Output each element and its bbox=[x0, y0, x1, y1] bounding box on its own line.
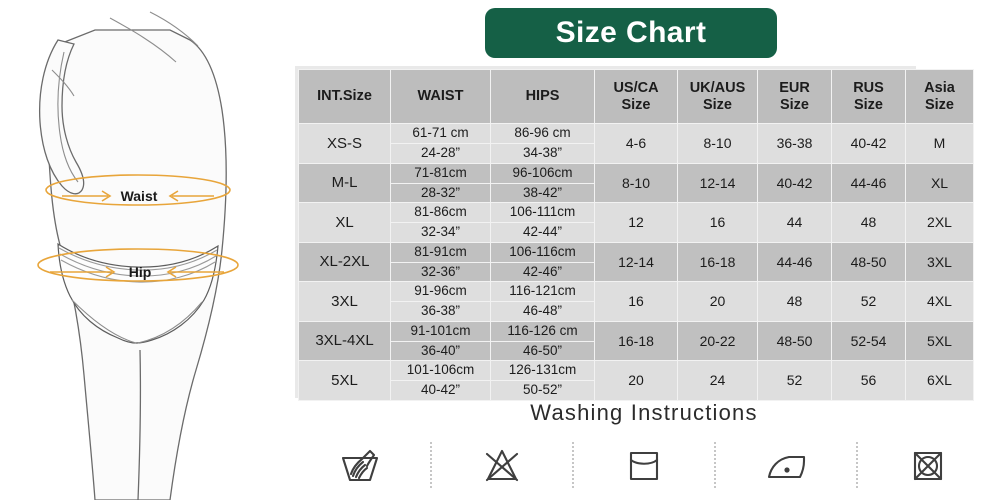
wash-separator-3 bbox=[714, 442, 716, 488]
wash-item-drip-dry bbox=[594, 442, 694, 488]
cell-eur: 44-46 bbox=[758, 242, 832, 282]
iron-low-icon bbox=[761, 442, 811, 488]
wash-item-do-not-bleach bbox=[452, 442, 552, 488]
cell-waist: 81-91cm32-36” bbox=[391, 242, 491, 282]
col-header-eur: EUR Size bbox=[758, 70, 832, 124]
cell-waist-cm: 81-91cm bbox=[391, 244, 490, 260]
do-not-bleach-icon bbox=[477, 442, 527, 488]
cell-asia: XL bbox=[906, 163, 974, 203]
cell-uk-aus: 16-18 bbox=[678, 242, 758, 282]
cell-rus: 40-42 bbox=[832, 124, 906, 164]
cell-asia: 2XL bbox=[906, 203, 974, 243]
cell-asia: 5XL bbox=[906, 321, 974, 361]
cell-waist: 61-71 cm24-28” bbox=[391, 124, 491, 164]
cell-int-size: 3XL-4XL bbox=[299, 321, 391, 361]
col-header-rus-line1: RUS bbox=[853, 80, 884, 96]
do-not-tumble-dry-icon bbox=[903, 442, 953, 488]
body-measurement-illustration: Waist Hip bbox=[0, 0, 290, 500]
cell-int-size: 3XL bbox=[299, 282, 391, 322]
cell-hips-inch: 42-44” bbox=[491, 222, 594, 240]
cell-hips-cm: 106-111cm bbox=[491, 204, 594, 220]
table-row: XS-S61-71 cm24-28”86-96 cm34-38”4-68-103… bbox=[299, 124, 974, 164]
col-header-uk-aus: UK/AUS Size bbox=[678, 70, 758, 124]
cell-hips-cm: 116-121cm bbox=[491, 283, 594, 299]
cell-hips: 106-111cm42-44” bbox=[491, 203, 595, 243]
col-header-us-ca-line2: Size bbox=[621, 97, 650, 113]
size-chart-page: Waist Hip Size Chart I bbox=[0, 0, 1000, 500]
header-row: INT.Size WAIST HIPS US/CA Size bbox=[299, 70, 974, 124]
cell-waist-cm: 71-81cm bbox=[391, 165, 490, 181]
cell-int-size: XS-S bbox=[299, 124, 391, 164]
washing-instructions-title: Washing Instructions bbox=[288, 398, 1000, 430]
col-header-hips-line1: HIPS bbox=[526, 88, 560, 104]
cell-us-ca: 12-14 bbox=[595, 242, 678, 282]
cell-waist-cm: 91-101cm bbox=[391, 323, 490, 339]
col-header-int-size-line1: INT.Size bbox=[317, 88, 372, 104]
col-header-us-ca: US/CA Size bbox=[595, 70, 678, 124]
col-header-asia-line2: Size bbox=[925, 97, 954, 113]
cell-waist-inch: 36-40” bbox=[391, 341, 490, 359]
col-header-waist-line1: WAIST bbox=[418, 88, 464, 104]
cell-uk-aus: 8-10 bbox=[678, 124, 758, 164]
cell-us-ca: 4-6 bbox=[595, 124, 678, 164]
table-row: XL81-86cm32-34”106-111cm42-44”121644482X… bbox=[299, 203, 974, 243]
cell-rus: 56 bbox=[832, 361, 906, 401]
cell-rus: 52-54 bbox=[832, 321, 906, 361]
col-header-us-ca-line1: US/CA bbox=[613, 80, 658, 96]
cell-eur: 52 bbox=[758, 361, 832, 401]
cell-hips: 96-106cm38-42” bbox=[491, 163, 595, 203]
col-header-uk-aus-line1: UK/AUS bbox=[690, 80, 746, 96]
page-title: Size Chart bbox=[556, 16, 707, 50]
cell-waist-cm: 91-96cm bbox=[391, 283, 490, 299]
waist-label: Waist bbox=[121, 188, 158, 204]
cell-us-ca: 16-18 bbox=[595, 321, 678, 361]
cell-us-ca: 12 bbox=[595, 203, 678, 243]
cell-waist: 81-86cm32-34” bbox=[391, 203, 491, 243]
col-header-eur-line1: EUR bbox=[779, 80, 810, 96]
cell-waist: 71-81cm28-32” bbox=[391, 163, 491, 203]
col-header-uk-aus-line2: Size bbox=[703, 97, 732, 113]
wash-item-iron-low bbox=[736, 442, 836, 488]
cell-hips-cm: 126-131cm bbox=[491, 362, 594, 378]
cell-waist: 91-101cm36-40” bbox=[391, 321, 491, 361]
col-header-hips: HIPS bbox=[491, 70, 595, 124]
cell-waist-inch: 24-28” bbox=[391, 143, 490, 161]
cell-hips-inch: 46-48” bbox=[491, 301, 594, 319]
washing-instructions-section: Washing Instructions bbox=[288, 398, 1000, 500]
cell-int-size: XL bbox=[299, 203, 391, 243]
wash-separator-2 bbox=[572, 442, 574, 488]
size-table-header: INT.Size WAIST HIPS US/CA Size bbox=[299, 70, 974, 124]
cell-us-ca: 8-10 bbox=[595, 163, 678, 203]
cell-eur: 44 bbox=[758, 203, 832, 243]
wash-separator-4 bbox=[856, 442, 858, 488]
col-header-int-size: INT.Size bbox=[299, 70, 391, 124]
cell-hips-inch: 42-46” bbox=[491, 262, 594, 280]
cell-waist-inch: 32-36” bbox=[391, 262, 490, 280]
cell-hips: 86-96 cm34-38” bbox=[491, 124, 595, 164]
wash-item-do-not-tumble-dry bbox=[878, 442, 978, 488]
table-row: 5XL101-106cm40-42”126-131cm50-52”2024525… bbox=[299, 361, 974, 401]
size-table-body: XS-S61-71 cm24-28”86-96 cm34-38”4-68-103… bbox=[299, 124, 974, 401]
page-title-banner: Size Chart bbox=[485, 8, 777, 58]
drip-dry-icon bbox=[619, 442, 669, 488]
cell-uk-aus: 12-14 bbox=[678, 163, 758, 203]
cell-us-ca: 20 bbox=[595, 361, 678, 401]
wash-separator-1 bbox=[430, 442, 432, 488]
cell-rus: 48-50 bbox=[832, 242, 906, 282]
cell-waist-inch: 32-34” bbox=[391, 222, 490, 240]
col-header-asia: Asia Size bbox=[906, 70, 974, 124]
cell-waist-cm: 101-106cm bbox=[391, 362, 490, 378]
cell-waist-inch: 40-42” bbox=[391, 380, 490, 398]
cell-hips-cm: 116-126 cm bbox=[491, 323, 594, 339]
cell-int-size: M-L bbox=[299, 163, 391, 203]
cell-waist-inch: 36-38” bbox=[391, 301, 490, 319]
hand-wash-icon bbox=[335, 442, 385, 488]
cell-waist-cm: 81-86cm bbox=[391, 204, 490, 220]
cell-uk-aus: 24 bbox=[678, 361, 758, 401]
cell-waist: 101-106cm40-42” bbox=[391, 361, 491, 401]
cell-us-ca: 16 bbox=[595, 282, 678, 322]
wash-item-hand-wash bbox=[310, 442, 410, 488]
col-header-rus: RUS Size bbox=[832, 70, 906, 124]
hip-label: Hip bbox=[129, 264, 152, 280]
table-row: 3XL91-96cm36-38”116-121cm46-48”162048524… bbox=[299, 282, 974, 322]
cell-int-size: 5XL bbox=[299, 361, 391, 401]
cell-hips-inch: 38-42” bbox=[491, 183, 594, 201]
cell-hips: 116-121cm46-48” bbox=[491, 282, 595, 322]
col-header-rus-line2: Size bbox=[854, 97, 883, 113]
table-row: XL-2XL81-91cm32-36”106-116cm42-46”12-141… bbox=[299, 242, 974, 282]
cell-rus: 44-46 bbox=[832, 163, 906, 203]
cell-eur: 48-50 bbox=[758, 321, 832, 361]
cell-asia: 4XL bbox=[906, 282, 974, 322]
cell-hips: 106-116cm42-46” bbox=[491, 242, 595, 282]
cell-eur: 48 bbox=[758, 282, 832, 322]
cell-asia: 6XL bbox=[906, 361, 974, 401]
size-table: INT.Size WAIST HIPS US/CA Size bbox=[298, 69, 974, 401]
table-row: M-L71-81cm28-32”96-106cm38-42”8-1012-144… bbox=[299, 163, 974, 203]
cell-uk-aus: 20 bbox=[678, 282, 758, 322]
table-row: 3XL-4XL91-101cm36-40”116-126 cm46-50”16-… bbox=[299, 321, 974, 361]
cell-uk-aus: 16 bbox=[678, 203, 758, 243]
col-header-eur-line2: Size bbox=[780, 97, 809, 113]
cell-hips-inch: 46-50” bbox=[491, 341, 594, 359]
right-panel: INT.Size WAIST HIPS US/CA Size bbox=[288, 0, 1000, 500]
size-table-container: INT.Size WAIST HIPS US/CA Size bbox=[295, 66, 916, 398]
cell-asia: M bbox=[906, 124, 974, 164]
cell-hips-inch: 50-52” bbox=[491, 380, 594, 398]
cell-asia: 3XL bbox=[906, 242, 974, 282]
cell-hips-inch: 34-38” bbox=[491, 143, 594, 161]
cell-hips: 126-131cm50-52” bbox=[491, 361, 595, 401]
cell-eur: 40-42 bbox=[758, 163, 832, 203]
cell-hips: 116-126 cm46-50” bbox=[491, 321, 595, 361]
cell-rus: 48 bbox=[832, 203, 906, 243]
cell-uk-aus: 20-22 bbox=[678, 321, 758, 361]
washing-icons-row bbox=[288, 430, 1000, 496]
col-header-waist: WAIST bbox=[391, 70, 491, 124]
cell-eur: 36-38 bbox=[758, 124, 832, 164]
cell-rus: 52 bbox=[832, 282, 906, 322]
cell-int-size: XL-2XL bbox=[299, 242, 391, 282]
col-header-asia-line1: Asia bbox=[924, 80, 955, 96]
cell-hips-cm: 106-116cm bbox=[491, 244, 594, 260]
cell-waist-cm: 61-71 cm bbox=[391, 125, 490, 141]
cell-hips-cm: 86-96 cm bbox=[491, 125, 594, 141]
cell-hips-cm: 96-106cm bbox=[491, 165, 594, 181]
cell-waist: 91-96cm36-38” bbox=[391, 282, 491, 322]
cell-waist-inch: 28-32” bbox=[391, 183, 490, 201]
